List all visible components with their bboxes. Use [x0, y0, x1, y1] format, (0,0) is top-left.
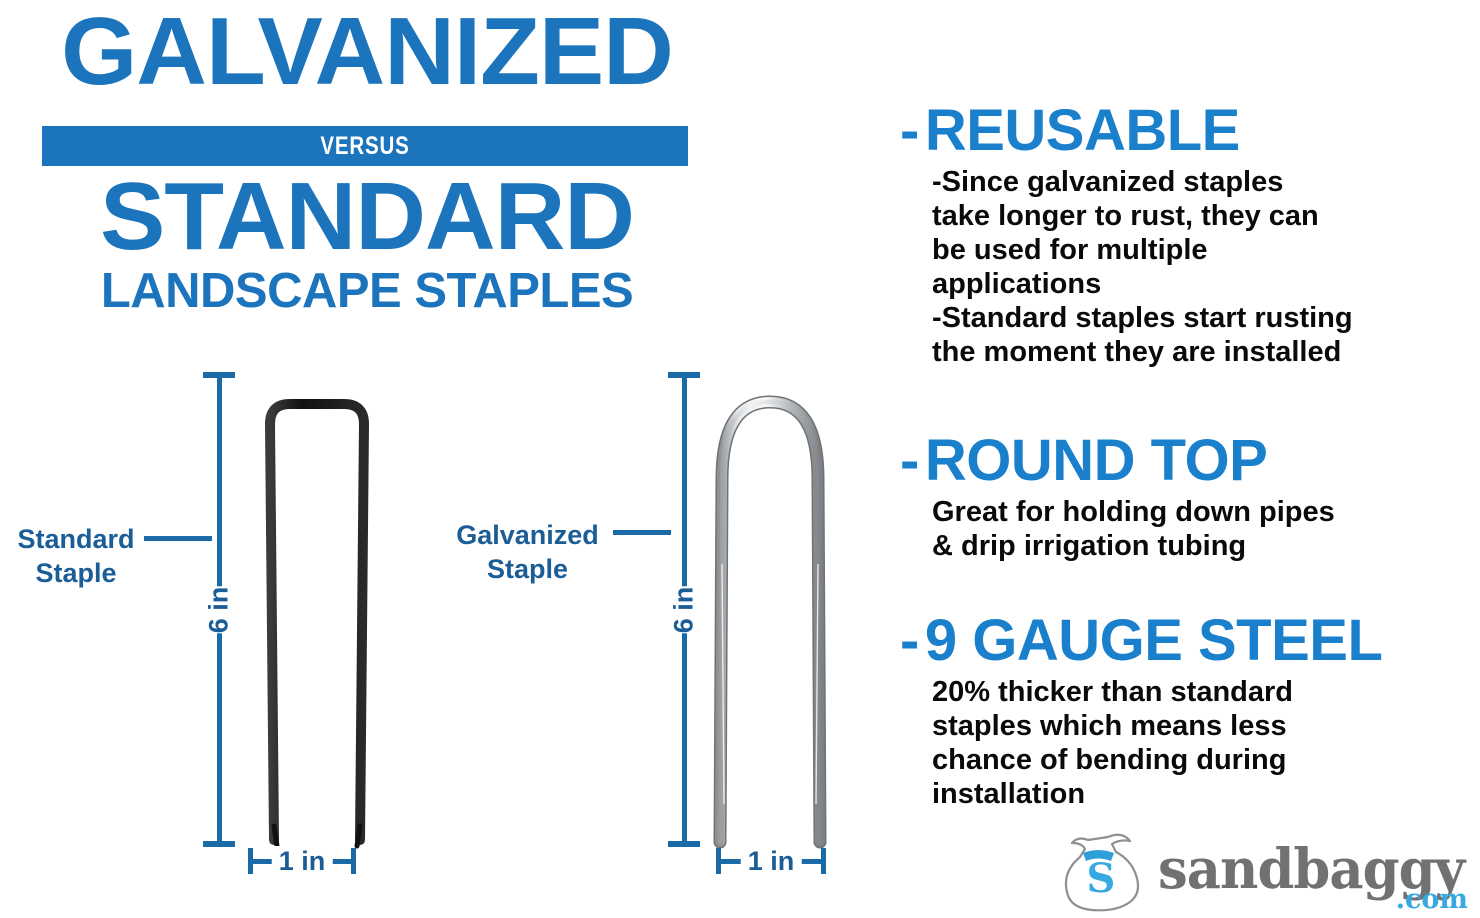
galvanized-leader-line	[613, 530, 671, 535]
feature-body-line: Great for holding down pipes	[932, 495, 1448, 529]
feature-body-line: -Standard staples start rusting	[932, 301, 1448, 335]
feature-round-top-heading-text: ROUND TOP	[925, 428, 1267, 493]
sandbaggy-logo[interactable]: S sandbaggy .com	[1040, 828, 1470, 916]
infographic-page: GALVANIZED VERSUS STANDARD LANDSCAPE STA…	[0, 0, 1480, 918]
standard-width-value: 1 in	[272, 846, 333, 876]
feature-body-line: chance of bending during	[932, 743, 1448, 777]
feature-body-line: applications	[932, 267, 1448, 301]
galvanized-staple-label: Galvanized Staple	[440, 518, 615, 586]
logo-tld: .com	[1396, 886, 1468, 914]
standard-height-dimension: 6 in	[203, 372, 235, 847]
feature-9-gauge-steel-heading: -9 GAUGE STEEL	[900, 610, 1448, 672]
title-subtitle: LANDSCAPE STAPLES	[42, 265, 692, 317]
feature-round-top-heading: -ROUND TOP	[900, 430, 1448, 492]
feature-body-line: & drip irrigation tubing	[932, 529, 1448, 563]
feature-dash: -	[900, 98, 919, 163]
feature-reusable-body: -Since galvanized staples take longer to…	[932, 165, 1448, 369]
feature-9-gauge-steel-body: 20% thicker than standard staples which …	[932, 675, 1448, 811]
galvanized-staple-illustration	[700, 364, 840, 854]
title-galvanized: GALVANIZED	[36, 2, 699, 102]
dimension-cap-top	[668, 372, 700, 378]
feature-body-line: installation	[932, 777, 1448, 811]
feature-body-line: -Since galvanized staples	[932, 165, 1448, 199]
sandbag-icon: S	[1058, 830, 1150, 914]
feature-reusable-heading: -REUSABLE	[900, 100, 1448, 162]
feature-reusable: -REUSABLE -Since galvanized staples take…	[900, 100, 1448, 369]
sandbag-letter: S	[1087, 855, 1116, 902]
feature-9-gauge-steel-heading-text: 9 GAUGE STEEL	[925, 608, 1383, 673]
standard-leader-line	[144, 536, 212, 541]
galvanized-width-value: 1 in	[741, 846, 802, 876]
feature-body-line: take longer to rust, they can	[932, 199, 1448, 233]
standard-staple-illustration	[252, 364, 382, 854]
dimension-cap-left	[248, 848, 253, 874]
title-standard: STANDARD	[36, 167, 699, 267]
feature-body-line: the moment they are installed	[932, 335, 1448, 369]
standard-staple-label-line2: Staple	[2, 556, 150, 590]
versus-bar: VERSUS	[42, 126, 688, 166]
galvanized-width-dimension: 1 in	[716, 846, 826, 876]
title-block: GALVANIZED VERSUS STANDARD LANDSCAPE STA…	[0, 0, 710, 330]
dimension-cap-left	[716, 848, 721, 874]
galvanized-height-dimension: 6 in	[668, 372, 700, 847]
standard-staple-label: Standard Staple	[2, 522, 150, 590]
galvanized-staple-label-line2: Staple	[440, 552, 615, 586]
dimension-cap-top	[203, 372, 235, 378]
feature-body-line: 20% thicker than standard	[932, 675, 1448, 709]
dimension-cap-right	[351, 848, 356, 874]
versus-label: VERSUS	[100, 126, 630, 166]
dimension-cap-bottom	[203, 841, 235, 847]
standard-height-value: 6 in	[197, 586, 242, 633]
feature-9-gauge-steel: -9 GAUGE STEEL 20% thicker than standard…	[900, 610, 1448, 811]
staple-comparison-diagram: Standard Staple Galvanized Staple 6 in 6…	[0, 330, 880, 918]
galvanized-height-value: 6 in	[662, 586, 707, 633]
feature-body-line: staples which means less	[932, 709, 1448, 743]
feature-round-top-body: Great for holding down pipes & drip irri…	[932, 495, 1448, 563]
feature-dash: -	[900, 428, 919, 493]
dimension-cap-right	[821, 848, 826, 874]
feature-body-line: be used for multiple	[932, 233, 1448, 267]
standard-staple-label-line1: Standard	[2, 522, 150, 556]
feature-round-top: -ROUND TOP Great for holding down pipes …	[900, 430, 1448, 563]
dimension-cap-bottom	[668, 841, 700, 847]
standard-width-dimension: 1 in	[248, 846, 356, 876]
galvanized-staple-label-line1: Galvanized	[440, 518, 615, 552]
feature-dash: -	[900, 608, 919, 673]
feature-reusable-heading-text: REUSABLE	[925, 98, 1240, 163]
